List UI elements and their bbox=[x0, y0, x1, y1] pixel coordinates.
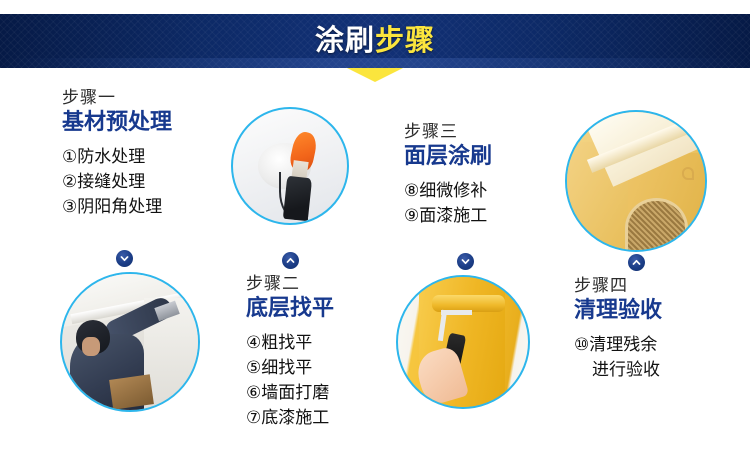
infographic-page: 涂刷步骤 步骤一 基材预处理 ①防水处理 ②接缝处理 ③阴阳角处理 bbox=[0, 0, 750, 475]
step-item: 进行验收 bbox=[574, 357, 662, 382]
step-item: ⑤细找平 bbox=[246, 355, 334, 380]
step-block-4: 步骤四 清理验收 ⑩清理残余 进行验收 bbox=[574, 276, 662, 382]
step-block-2: 步骤二 底层找平 ④粗找平 ⑤细找平 ⑥墙面打磨 ⑦底漆施工 bbox=[246, 274, 334, 431]
step-item: ⑩清理残余 bbox=[574, 332, 662, 357]
step-item: ④粗找平 bbox=[246, 330, 334, 355]
finished-interior-photo bbox=[567, 112, 705, 250]
step-block-1: 步骤一 基材预处理 ①防水处理 ②接缝处理 ③阴阳角处理 bbox=[62, 88, 172, 219]
banner-pointer-triangle bbox=[347, 68, 403, 82]
step-photo-2 bbox=[60, 272, 200, 412]
step-photo-3 bbox=[396, 275, 530, 409]
chevron-down-icon bbox=[116, 250, 133, 267]
page-title-primary: 涂刷 bbox=[315, 27, 375, 56]
step-number-3: 步骤三 bbox=[404, 122, 492, 142]
step-items-3: ⑧细微修补 ⑨面漆施工 bbox=[404, 178, 492, 228]
step-item: ⑨面漆施工 bbox=[404, 203, 492, 228]
step-name-3: 面层涂刷 bbox=[404, 143, 492, 169]
step-block-3: 步骤三 面层涂刷 ⑧细微修补 ⑨面漆施工 bbox=[404, 122, 492, 228]
worker-puttying-wall-photo bbox=[62, 274, 198, 410]
step-items-2: ④粗找平 ⑤细找平 ⑥墙面打磨 ⑦底漆施工 bbox=[246, 330, 334, 431]
step-name-4: 清理验收 bbox=[574, 297, 662, 323]
step-photo-4 bbox=[565, 110, 707, 252]
step-name-1: 基材预处理 bbox=[62, 109, 172, 135]
page-title-accent: 步骤 bbox=[375, 27, 435, 56]
step-number-1: 步骤一 bbox=[62, 88, 172, 108]
step-item-continuation: 进行验收 bbox=[574, 357, 660, 382]
page-title: 涂刷步骤 bbox=[0, 14, 750, 68]
step-item: ③阴阳角处理 bbox=[62, 194, 172, 219]
step-item: ①防水处理 bbox=[62, 144, 172, 169]
step-number-4: 步骤四 bbox=[574, 276, 662, 296]
header-banner: 涂刷步骤 bbox=[0, 14, 750, 68]
chevron-up-icon bbox=[282, 252, 299, 269]
paint-roller-yellow-wall-photo bbox=[398, 277, 528, 407]
step-item: ⑧细微修补 bbox=[404, 178, 492, 203]
step-items-1: ①防水处理 ②接缝处理 ③阴阳角处理 bbox=[62, 144, 172, 219]
chevron-up-icon bbox=[628, 254, 645, 271]
chevron-down-icon bbox=[457, 253, 474, 270]
step-name-2: 底层找平 bbox=[246, 295, 334, 321]
step-items-4: ⑩清理残余 进行验收 bbox=[574, 332, 662, 382]
step-photo-1 bbox=[231, 107, 349, 225]
step-item: ⑦底漆施工 bbox=[246, 405, 334, 430]
step-item: ②接缝处理 bbox=[62, 169, 172, 194]
step-item: ⑥墙面打磨 bbox=[246, 380, 334, 405]
wall-sander-photo bbox=[233, 109, 347, 223]
step-number-2: 步骤二 bbox=[246, 274, 334, 294]
